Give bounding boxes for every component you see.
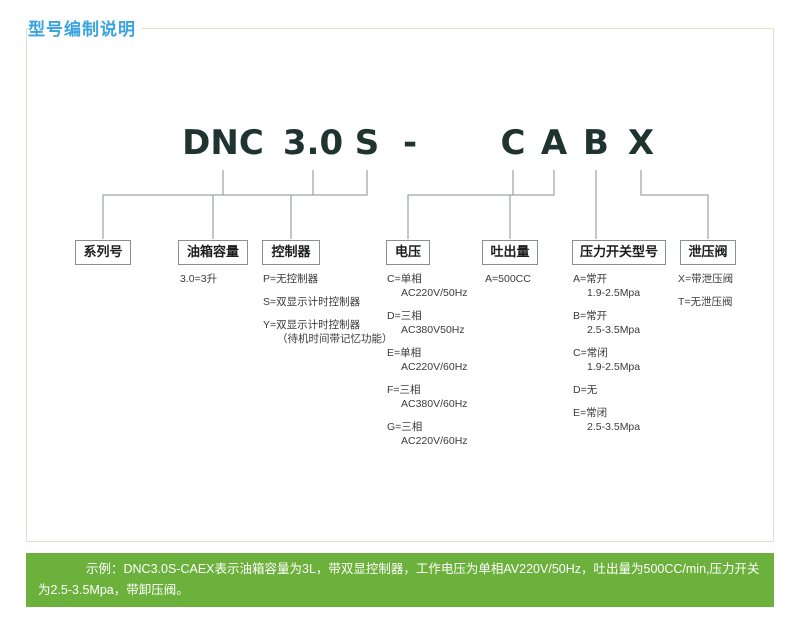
option-sublabel: 2.5-3.5Mpa [573, 420, 640, 434]
option-item: D=三相AC380V50Hz [387, 309, 468, 337]
option-label: S=双显示计时控制器 [263, 295, 393, 309]
option-item: D=无 [573, 383, 640, 397]
option-column-relief-valve: X=带泄压阀T=无泄压阀 [678, 272, 733, 309]
model-code-char: X [626, 122, 656, 164]
page-title: 型号编制说明 [28, 15, 142, 40]
label-box-voltage: 电压 [386, 240, 430, 265]
option-label: Y=双显示计时控制器 [263, 318, 393, 332]
option-item: C=单相AC220V/50Hz [387, 272, 468, 300]
option-sublabel: （待机时间带记忆功能） [263, 332, 393, 346]
option-sublabel: 1.9-2.5Mpa [573, 286, 640, 300]
option-item: A=500CC [485, 272, 531, 286]
model-code-char: C [498, 122, 528, 164]
option-column-controller: P=无控制器S=双显示计时控制器Y=双显示计时控制器（待机时间带记忆功能） [263, 272, 393, 346]
option-column-voltage: C=单相AC220V/50HzD=三相AC380V50HzE=单相AC220V/… [387, 272, 468, 448]
option-label: X=带泄压阀 [678, 272, 733, 286]
option-item: 3.0=3升 [180, 272, 217, 286]
model-code-char: A [539, 122, 569, 164]
label-box-relief-valve: 泄压阀 [680, 240, 736, 265]
option-label: C=常闭 [573, 346, 640, 360]
model-code-char: - [398, 122, 422, 164]
option-sublabel: AC380V50Hz [387, 323, 468, 337]
option-label: 3.0=3升 [180, 272, 217, 286]
model-code-char: 3.0 [278, 122, 348, 164]
option-item: P=无控制器 [263, 272, 393, 286]
option-item: C=常闭1.9-2.5Mpa [573, 346, 640, 374]
option-item: B=常开2.5-3.5Mpa [573, 309, 640, 337]
option-sublabel: AC220V/60Hz [387, 434, 468, 448]
option-label: D=无 [573, 383, 640, 397]
option-label: A=500CC [485, 272, 531, 286]
label-box-pressure-switch: 压力开关型号 [572, 240, 666, 265]
option-item: A=常开1.9-2.5Mpa [573, 272, 640, 300]
option-label: T=无泄压阀 [678, 295, 733, 309]
option-column-tank-capacity: 3.0=3升 [180, 272, 217, 286]
option-sublabel: 2.5-3.5Mpa [573, 323, 640, 337]
option-label: F=三相 [387, 383, 468, 397]
option-label: D=三相 [387, 309, 468, 323]
model-code-char: B [581, 122, 611, 164]
label-box-discharge-volume: 吐出量 [482, 240, 538, 265]
label-box-tank-capacity: 油箱容量 [178, 240, 248, 265]
option-sublabel: 1.9-2.5Mpa [573, 360, 640, 374]
option-item: E=单相AC220V/60Hz [387, 346, 468, 374]
option-label: C=单相 [387, 272, 468, 286]
option-sublabel: AC220V/60Hz [387, 360, 468, 374]
option-sublabel: AC220V/50Hz [387, 286, 468, 300]
option-item: Y=双显示计时控制器（待机时间带记忆功能） [263, 318, 393, 346]
model-code-char: S [352, 122, 382, 164]
option-item: X=带泄压阀 [678, 272, 733, 286]
option-label: B=常开 [573, 309, 640, 323]
option-label: P=无控制器 [263, 272, 393, 286]
option-item: T=无泄压阀 [678, 295, 733, 309]
option-label: E=常闭 [573, 406, 640, 420]
option-item: F=三相AC380V/60Hz [387, 383, 468, 411]
option-item: G=三相AC220V/60Hz [387, 420, 468, 448]
option-label: A=常开 [573, 272, 640, 286]
option-item: E=常闭2.5-3.5Mpa [573, 406, 640, 434]
option-item: S=双显示计时控制器 [263, 295, 393, 309]
model-code-char: DNC [175, 122, 271, 164]
example-banner: 示例：DNC3.0S-CAEX表示油箱容量为3L，带双显控制器，工作电压为单相A… [26, 553, 774, 607]
option-sublabel: AC380V/60Hz [387, 397, 468, 411]
option-label: G=三相 [387, 420, 468, 434]
example-text: 示例：DNC3.0S-CAEX表示油箱容量为3L，带双显控制器，工作电压为单相A… [38, 559, 762, 601]
option-column-pressure-switch: A=常开1.9-2.5MpaB=常开2.5-3.5MpaC=常闭1.9-2.5M… [573, 272, 640, 434]
label-box-series-number: 系列号 [75, 240, 131, 265]
option-label: E=单相 [387, 346, 468, 360]
label-box-controller: 控制器 [262, 240, 320, 265]
option-column-discharge-volume: A=500CC [485, 272, 531, 286]
model-code-row: DNC3.0S-CABX [0, 122, 800, 164]
